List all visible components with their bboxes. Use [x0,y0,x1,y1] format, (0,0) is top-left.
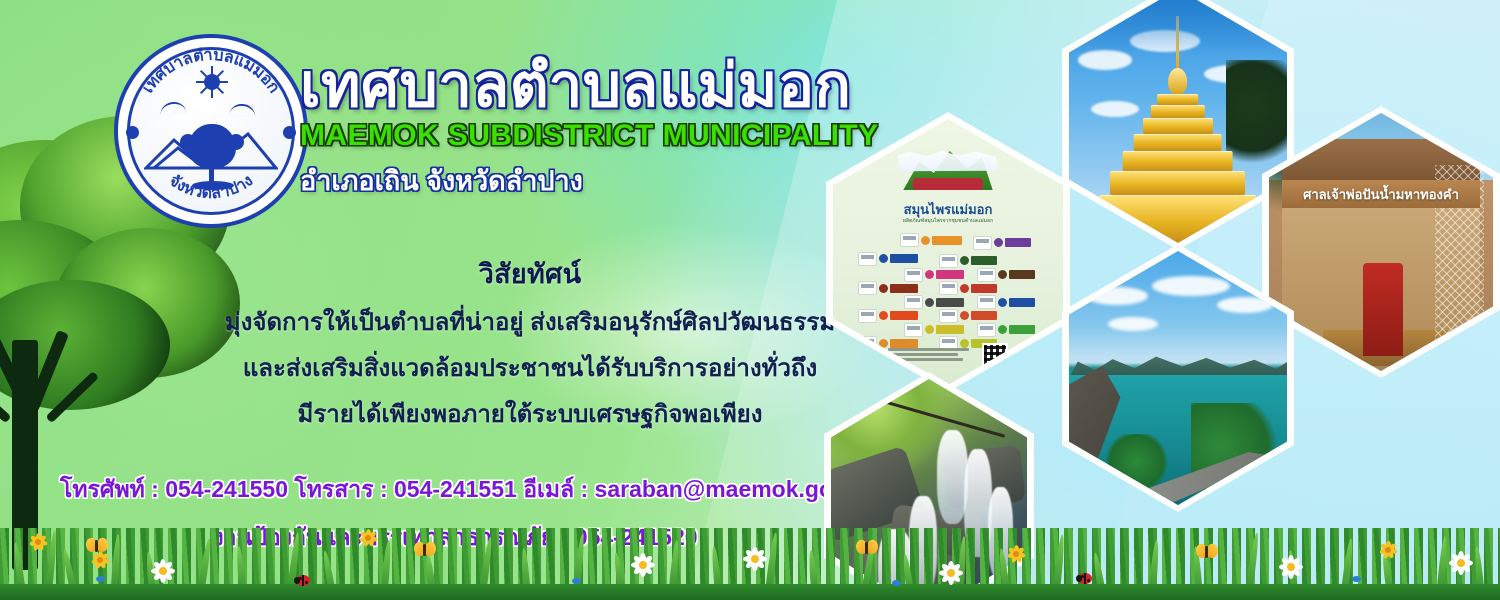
page-title-thai: เทศบาลตำบลแม่มอก [300,54,960,117]
butterfly-icon [86,538,108,554]
yellow-flower-icon [1378,540,1398,560]
daisy-flower-icon [150,558,176,584]
vision-block: วิสัยทัศน์ มุ่งจัดการให้เป็นตำบลที่น่าอย… [210,252,850,433]
daisy-flower-icon [630,552,656,578]
vision-line-1: มุ่งจัดการให้เป็นตำบลที่น่าอยู่ ส่งเสริม… [210,302,850,341]
daisy-flower-icon [742,546,768,572]
emblem-artwork: เทศบาลตำบลแม่มอก จังหวัดลำปาง [118,38,304,224]
butterfly-icon [856,540,878,556]
blue-bug-icon [892,580,901,586]
poster-product-grid [854,233,1047,347]
yellow-flower-icon [1006,544,1026,564]
svg-text:เทศบาลตำบลแม่มอก: เทศบาลตำบลแม่มอก [139,45,282,96]
contact-line-phone-fax-email[interactable]: โทรศัพท์ : 054-241550 โทรสาร : 054-24155… [60,472,850,508]
pagoda-structure [1100,25,1257,243]
ladybug-icon [1078,573,1092,584]
municipality-banner: เทศบาลตำบลแม่มอก จังหวัดลำปาง เทศบาลตำบล… [0,0,1500,600]
butterfly-icon [414,542,436,558]
grass-flower-border [0,504,1500,600]
vision-heading: วิสัยทัศน์ [210,252,850,295]
municipality-emblem: เทศบาลตำบลแม่มอก จังหวัดลำปาง [118,38,304,224]
blue-bug-icon [1352,576,1361,582]
svg-text:จังหวัดลำปาง: จังหวัดลำปาง [166,171,257,202]
emblem-ring-text: เทศบาลตำบลแม่มอก จังหวัดลำปาง [118,38,304,224]
page-title-english: MAEMOK SUBDISTRICT MUNICIPALITY [300,119,960,153]
poster-subcaption: ผลิตภัณฑ์สมุนไพรจากชุมชนตำบลแม่มอก [833,217,1063,225]
vision-line-3: มีรายได้เพียงพอภายใต้ระบบเศรษฐกิจพอเพียง [210,394,850,433]
daisy-flower-icon [1448,550,1474,576]
blue-bug-icon [572,578,581,584]
daisy-flower-icon [1278,554,1304,580]
daisy-flower-icon [938,560,964,586]
shrine-sign: ศาลเจ้าพ่อปันน้ำมหาทองคำ [1282,180,1479,208]
vision-line-2: และส่งเสริมสิ่งแวดล้อมประชาชนได้รับบริกา… [210,348,850,387]
yellow-flower-icon [28,532,48,552]
ladybug-icon [296,575,310,586]
yellow-flower-icon [358,528,378,548]
rosette-icon [283,126,296,139]
emblem-ring-top-text: เทศบาลตำบลแม่มอก [139,45,282,96]
butterfly-icon [1196,544,1218,560]
blue-bug-icon [96,576,105,582]
rosette-icon [126,126,139,139]
emblem-ring-bottom-text: จังหวัดลำปาง [166,171,257,202]
